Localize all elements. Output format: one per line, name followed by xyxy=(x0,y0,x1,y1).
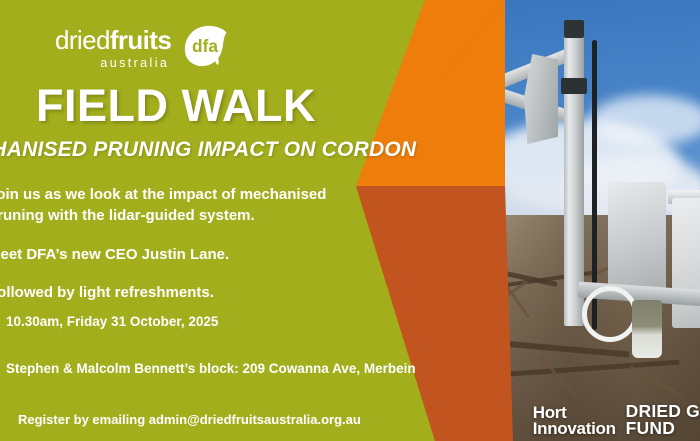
dfa-leaf-mark-icon: dfa xyxy=(180,22,230,70)
description-block: Join us as we look at the impact of mech… xyxy=(0,184,348,303)
field-walk-flyer: Hort Innovation DRIED G FUND driedfruits… xyxy=(0,0,700,441)
event-datetime: 10.30am, Friday 31 October, 2025 xyxy=(6,314,486,329)
event-location: Stephen & Malcolm Bennett’s block: 209 C… xyxy=(6,361,486,376)
wordmark-dried: dried xyxy=(55,25,110,55)
dfa-mark-letters: dfa xyxy=(192,36,218,56)
registration-instruction: Register by emailing admin@driedfruitsau… xyxy=(18,412,361,427)
spacer xyxy=(0,265,348,282)
dfa-wordmark-main: driedfruits xyxy=(55,27,171,53)
wordmark-fruits: fruits xyxy=(110,25,171,55)
wordmark-australia: australia xyxy=(100,57,169,70)
page-subtitle: CHANISED PRUNING IMPACT ON CORDON xyxy=(0,138,416,162)
spacer xyxy=(0,227,348,244)
event-details: 10.30am, Friday 31 October, 2025 Stephen… xyxy=(6,314,486,376)
dfa-wordmark: driedfruits australia xyxy=(55,27,171,70)
description-line: pruning with the lidar-guided system. xyxy=(0,205,348,226)
flyer-content: driedfruits australia dfa FIELD WALK CHA… xyxy=(0,0,700,441)
description-line: Join us as we look at the impact of mech… xyxy=(0,184,348,205)
dfa-logo: driedfruits australia dfa xyxy=(55,22,230,74)
page-title: FIELD WALK xyxy=(36,80,316,132)
spacer xyxy=(6,329,486,361)
description-line: Followed by light refreshments. xyxy=(0,282,348,303)
description-line: Meet DFA’s new CEO Justin Lane. xyxy=(0,244,348,265)
